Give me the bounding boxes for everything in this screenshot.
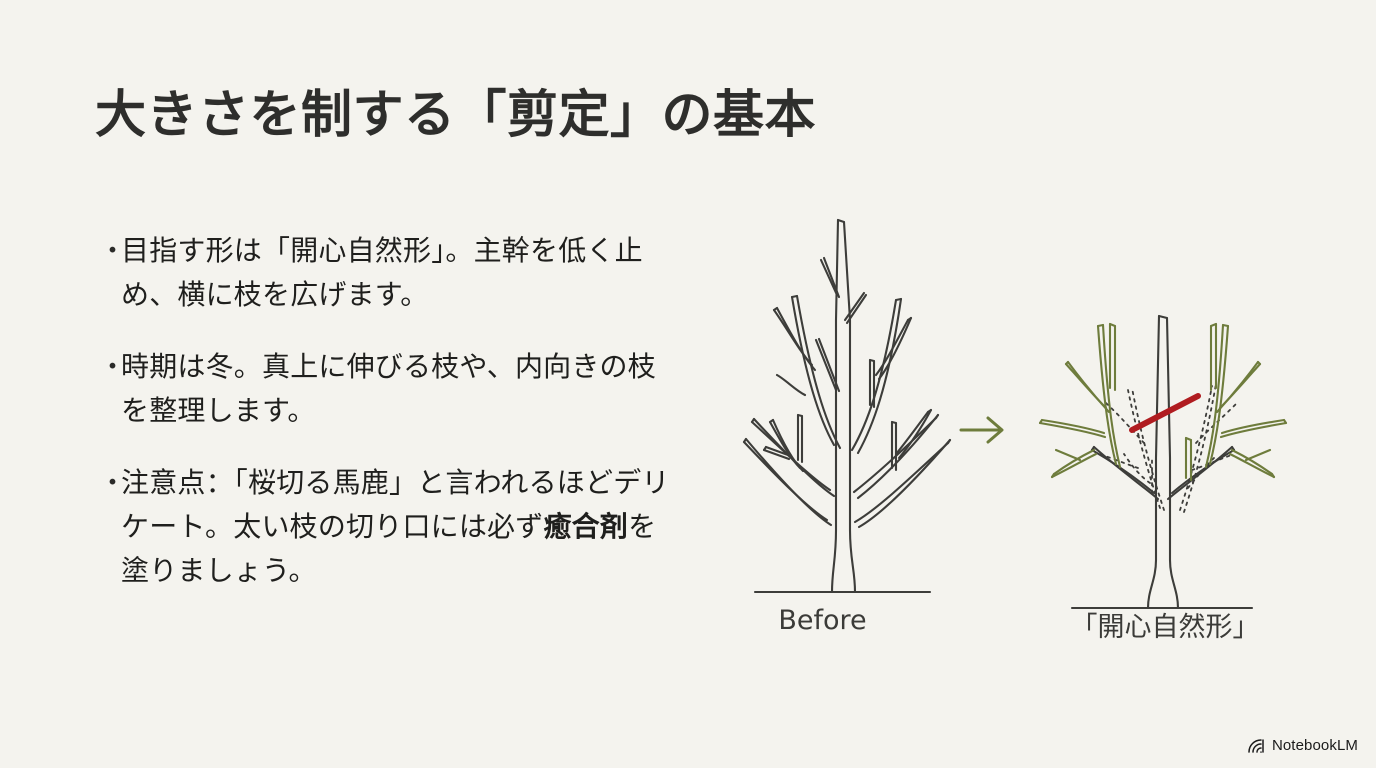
before-tree-illustration — [700, 200, 1000, 600]
caption-after: 「開心自然形」 — [1010, 605, 1320, 644]
notebooklm-spiral-icon — [1247, 738, 1266, 754]
transition-arrow-icon — [955, 408, 1015, 452]
removed-branches-dotted — [1096, 384, 1236, 512]
notebooklm-branding: NotebookLM — [1247, 737, 1358, 754]
list-item: ・ 時期は冬。真上に伸びる枝や、内向きの枝を整理します。 — [96, 345, 676, 433]
tree-diagram: Before 「開心自然形」 — [700, 200, 1320, 670]
bullet-marker-icon: ・ — [96, 229, 121, 273]
cut-mark-indicator — [1132, 396, 1198, 430]
list-item: ・ 注意点：「桜切る馬鹿」と言われるほどデリケート。太い枝の切り口には必ず癒合剤… — [96, 461, 676, 593]
bullet-text-3: 注意点：「桜切る馬鹿」と言われるほどデリケート。太い枝の切り口には必ず癒合剤を塗… — [121, 461, 676, 593]
slide-canvas: 大きさを制する「剪定」の基本 ・ 目指す形は「開心自然形」。主幹を低く止め、横に… — [0, 0, 1376, 768]
bullet-text-3-emphasis: 癒合剤 — [543, 510, 628, 543]
bullet-text-1: 目指す形は「開心自然形」。主幹を低く止め、横に枝を広げます。 — [121, 229, 676, 317]
notebooklm-logo-text: NotebookLM — [1272, 737, 1358, 754]
bullet-list: ・ 目指す形は「開心自然形」。主幹を低く止め、横に枝を広げます。 ・ 時期は冬。… — [96, 229, 676, 621]
bullet-text-2: 時期は冬。真上に伸びる枝や、内向きの枝を整理します。 — [121, 345, 676, 433]
bullet-marker-icon: ・ — [96, 461, 121, 505]
list-item: ・ 目指す形は「開心自然形」。主幹を低く止め、横に枝を広げます。 — [96, 229, 676, 317]
caption-before: Before — [700, 605, 945, 636]
bullet-marker-icon: ・ — [96, 345, 121, 389]
before-tree-branches — [744, 220, 950, 592]
page-title: 大きさを制する「剪定」の基本 — [95, 73, 816, 147]
